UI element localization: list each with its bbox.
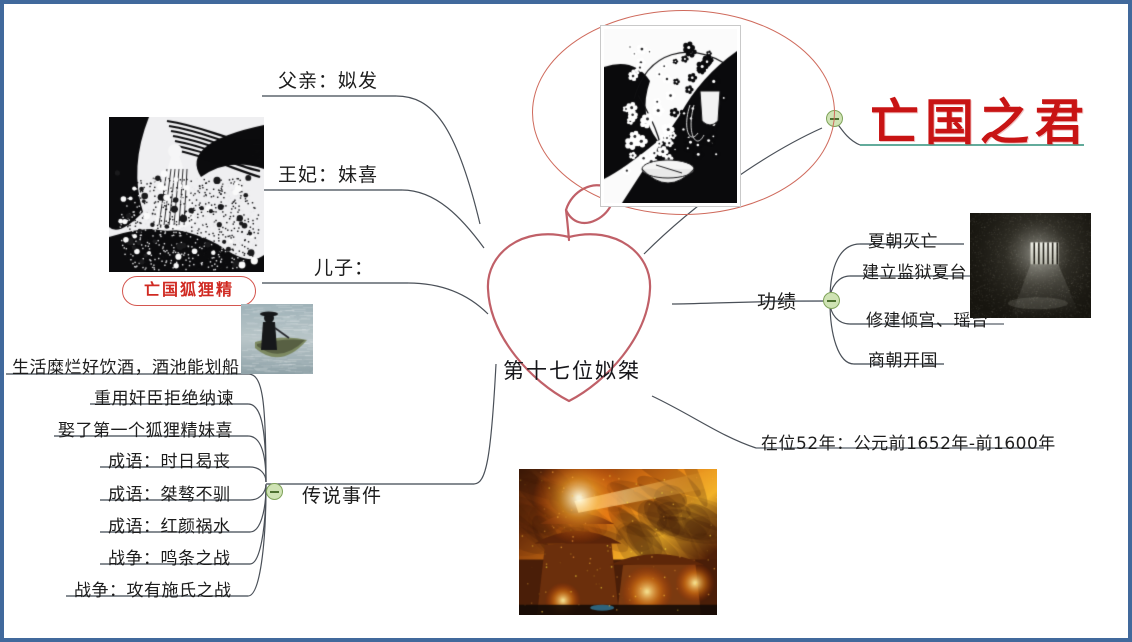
image-burning-palace-photo[interactable] <box>519 469 717 615</box>
central-topic-label[interactable]: 第十七位姒桀 <box>503 355 641 385</box>
image-fox-spirit-illustration[interactable] <box>109 117 264 272</box>
collapse-toggle-achievements[interactable] <box>823 292 840 309</box>
subtopic-debauched-life[interactable]: 生活糜烂好饮酒，酒池能划船 <box>12 353 240 378</box>
topic-achievements[interactable]: 功绩 <box>757 287 797 314</box>
subtopic-idiom-hongyanhuoshui[interactable]: 成语：红颜祸水 <box>108 512 231 537</box>
topic-son[interactable]: 儿子： <box>314 253 374 280</box>
subtopic-xia-dynasty-fall[interactable]: 夏朝灭亡 <box>868 227 938 252</box>
image-oval-framed-illustration[interactable] <box>601 26 740 206</box>
subtopic-built-xiatai-prison[interactable]: 建立监狱夏台 <box>862 258 967 283</box>
subtopic-idiom-jieaobuxun[interactable]: 成语：桀骜不驯 <box>108 480 231 505</box>
subtopic-trusted-traitors[interactable]: 重用奸臣拒绝纳谏 <box>94 384 234 409</box>
subtopic-war-youshishi[interactable]: 战争：攻有施氏之战 <box>74 576 232 601</box>
subtopic-idiom-shiriyangsang[interactable]: 成语：时日曷丧 <box>108 447 231 472</box>
topic-reign-period[interactable]: 在位52年：公元前1652年-前1600年 <box>761 429 1056 454</box>
topic-consort[interactable]: 王妃：妹喜 <box>278 160 378 187</box>
collapse-toggle-legend-events[interactable] <box>266 483 283 500</box>
mindmap-canvas: 第十七位姒桀 父亲：姒发 王妃：妹喜 儿子： 传说事件 生活糜烂好饮酒，酒池能划… <box>0 0 1132 642</box>
image-prison-cell-photo[interactable] <box>970 213 1091 318</box>
topic-fallen-ruler[interactable]: 亡国之君 <box>870 83 1090 154</box>
topic-father[interactable]: 父亲：姒发 <box>278 66 378 93</box>
subtopic-shang-founding[interactable]: 商朝开国 <box>868 346 938 371</box>
subtopic-married-meixi[interactable]: 娶了第一个狐狸精妹喜 <box>58 416 233 441</box>
image-boat-photo[interactable] <box>241 304 313 374</box>
caption-fox-spirit[interactable]: 亡国狐狸精 <box>122 276 256 306</box>
topic-legend-events[interactable]: 传说事件 <box>302 481 382 508</box>
subtopic-war-mingtiao[interactable]: 战争：鸣条之战 <box>108 544 231 569</box>
